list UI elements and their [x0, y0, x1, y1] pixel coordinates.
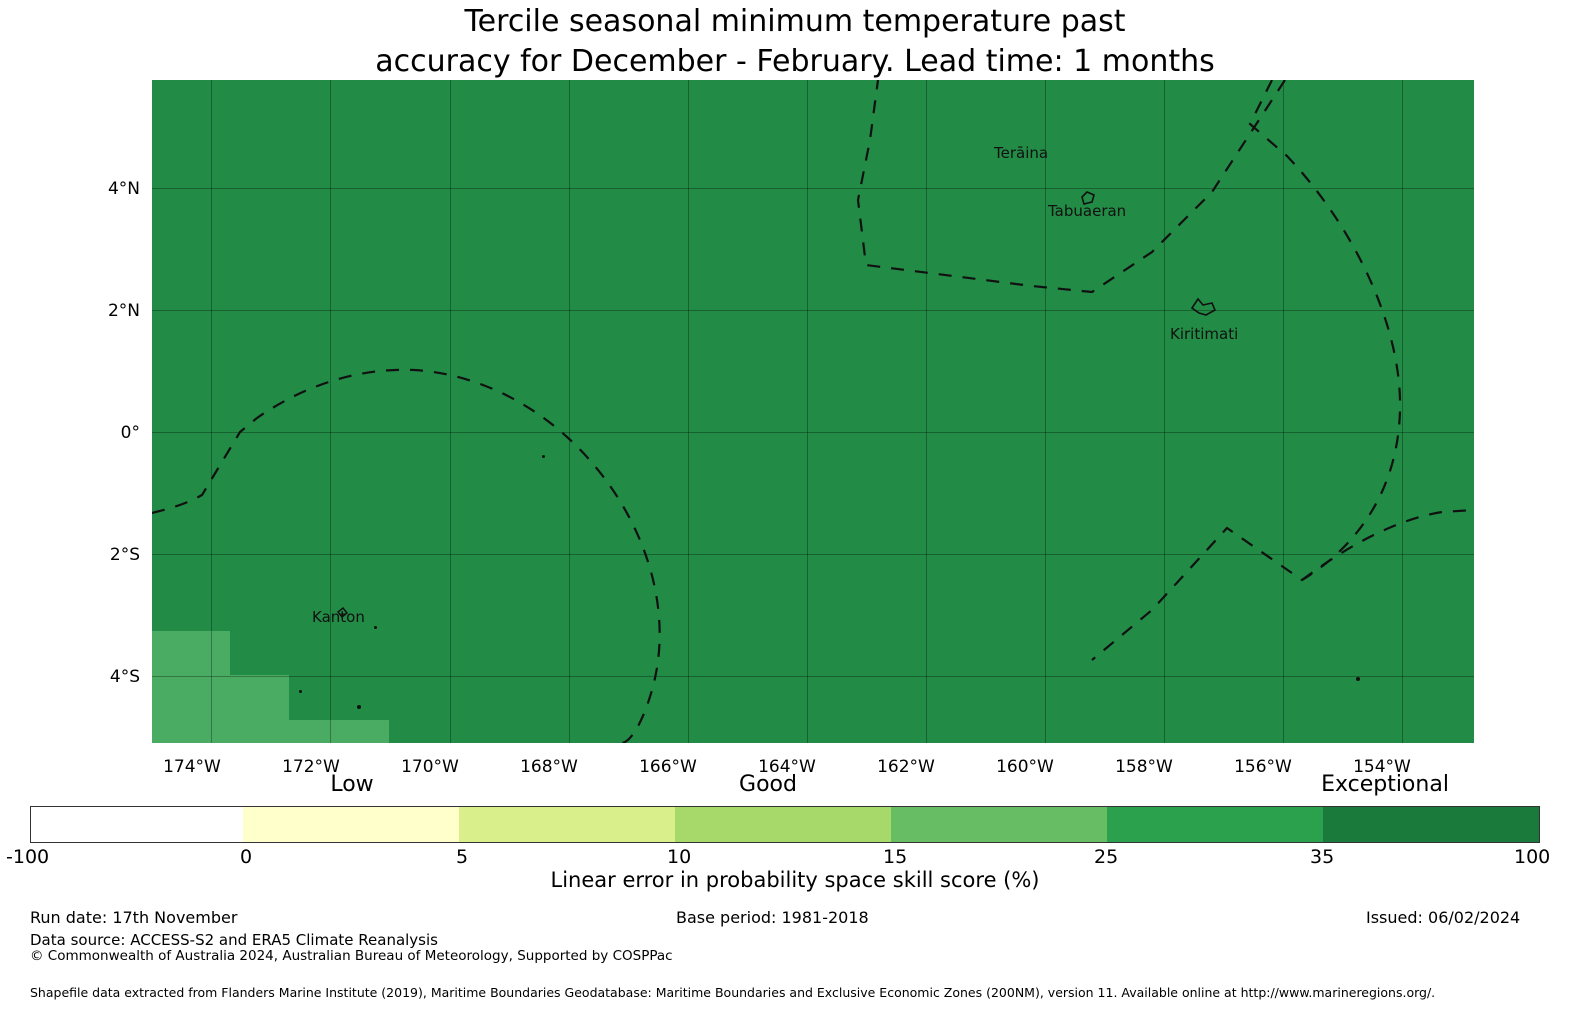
- y-axis-tick: 4°N: [80, 179, 140, 199]
- colorbar-tick: 5: [456, 846, 468, 868]
- footer-shapefile-attribution: Shapefile data extracted from Flanders M…: [30, 985, 1435, 1000]
- colorbar-tick: 100: [1514, 846, 1550, 868]
- x-axis-tick: 168°W: [504, 757, 594, 777]
- colorbar-segment: [243, 807, 459, 842]
- y-axis-tick: 4°S: [80, 667, 140, 687]
- colorbar-tick: -100: [6, 846, 49, 868]
- eez-boundary-northern-line: [858, 80, 1285, 292]
- title-line-2: accuracy for December - February. Lead t…: [0, 42, 1590, 82]
- y-axis-tick: 2°S: [80, 545, 140, 565]
- eez-boundary-phoenix: [152, 370, 660, 743]
- colorbar-segment: [1107, 807, 1323, 842]
- footer-issued: Issued: 06/02/2024: [1366, 908, 1520, 927]
- x-axis-tick: 170°W: [385, 757, 475, 777]
- colorbar-category-good: Good: [739, 772, 797, 797]
- page-title: Tercile seasonal minimum temperature pas…: [0, 2, 1590, 82]
- colorbar-tick: 10: [667, 846, 691, 868]
- eez-boundary-kiritimati: [1092, 80, 1400, 660]
- x-axis-tick: 160°W: [980, 757, 1070, 777]
- colorbar-segment: [31, 807, 243, 842]
- colorbar-category-exceptional: Exceptional: [1321, 772, 1449, 797]
- footer-base-period: Base period: 1981-2018: [676, 908, 869, 927]
- colorbar-tick: 0: [240, 846, 252, 868]
- colorbar-segment: [459, 807, 675, 842]
- x-axis-tick: 162°W: [861, 757, 951, 777]
- island-dot: [542, 455, 545, 458]
- island-label-tabuaeran: Tabuaeran: [1048, 202, 1126, 220]
- colorbar-category-low: Low: [330, 772, 373, 797]
- colorbar-title: Linear error in probability space skill …: [0, 868, 1590, 892]
- footer-copyright: © Commonwealth of Australia 2024, Austra…: [30, 948, 673, 964]
- colorbar-tick: 25: [1094, 846, 1118, 868]
- eez-boundary-overlay: [152, 80, 1474, 743]
- island-outline-kiritimati: [1192, 299, 1215, 315]
- x-axis-tick: 156°W: [1218, 757, 1308, 777]
- x-axis-tick: 174°W: [147, 757, 237, 777]
- island-label-kanton: Kanton: [312, 608, 365, 626]
- colorbar-segment: [891, 807, 1107, 842]
- y-axis-tick: 2°N: [80, 301, 140, 321]
- island-dot: [1356, 677, 1360, 681]
- y-axis-tick: 0°: [80, 423, 140, 443]
- colorbar-tick: 15: [883, 846, 907, 868]
- island-dot: [357, 705, 361, 709]
- footer-data-source: Data source: ACCESS-S2 and ERA5 Climate …: [30, 931, 438, 949]
- x-axis-tick: 158°W: [1099, 757, 1189, 777]
- island-dot: [299, 690, 302, 693]
- island-label-kiritimati: Kiritimati: [1170, 325, 1238, 343]
- eez-boundary-east-tail: [1302, 510, 1474, 580]
- colorbar-segment: [1323, 807, 1539, 842]
- colorbar-segment: [675, 807, 891, 842]
- title-line-1: Tercile seasonal minimum temperature pas…: [0, 2, 1590, 42]
- x-axis-tick: 166°W: [623, 757, 713, 777]
- island-label-teraina: Terāina: [994, 144, 1048, 162]
- colorbar-tick: 35: [1310, 846, 1334, 868]
- island-dot: [374, 626, 377, 629]
- map-plot-area: Terāina Tabuaeran Kiritimati Kanton: [152, 80, 1474, 743]
- footer-run-date: Run date: 17th November: [30, 908, 237, 927]
- colorbar: [30, 806, 1540, 843]
